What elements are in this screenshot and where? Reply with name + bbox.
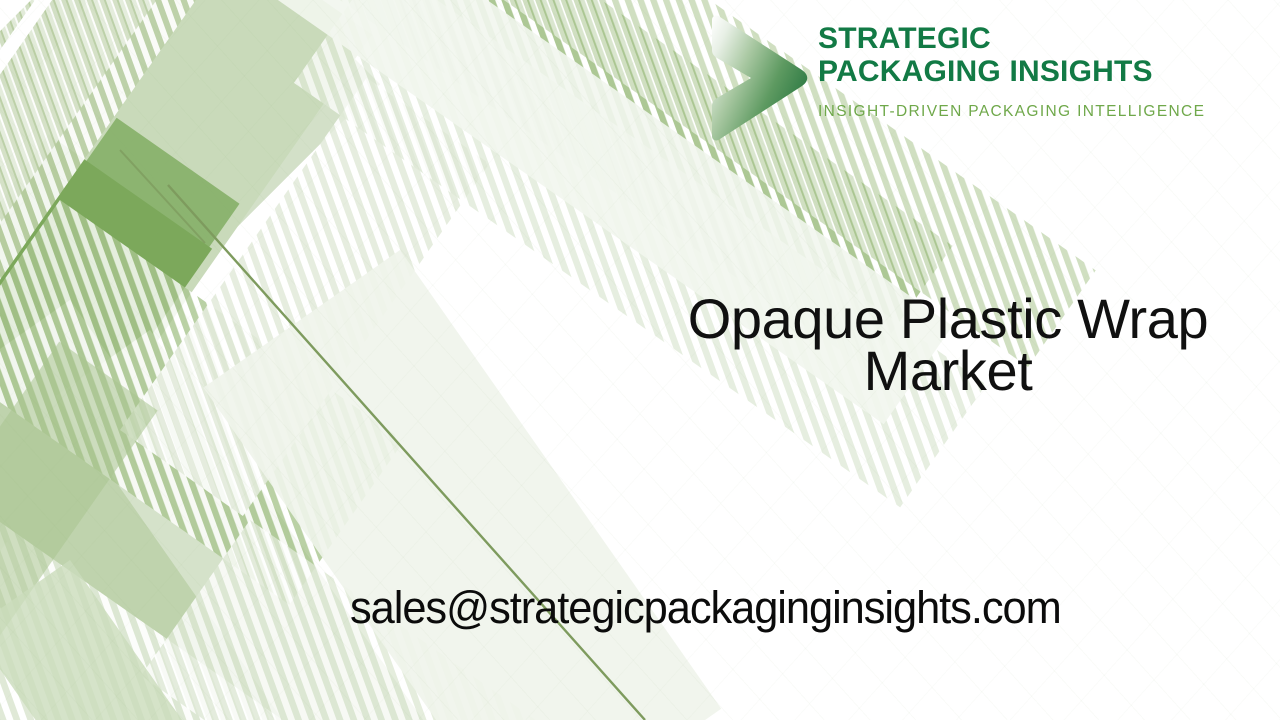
company-logo: STRATEGIC PACKAGING INSIGHTS INSIGHT-DRI… — [706, 14, 1226, 146]
slide-title: Opaque Plastic Wrap Market — [618, 293, 1278, 397]
contact-email: sales@strategicpackaginginsights.com — [350, 580, 1061, 636]
accent-hairline — [168, 185, 645, 720]
chevron-shape — [712, 16, 807, 141]
presentation-slide: STRATEGIC PACKAGING INSIGHTS INSIGHT-DRI… — [0, 0, 1280, 720]
chevron-mark-icon — [706, 14, 810, 142]
logo-line-1: STRATEGIC — [818, 22, 1205, 55]
logo-wordmark: STRATEGIC PACKAGING INSIGHTS INSIGHT-DRI… — [818, 14, 1205, 122]
logo-tagline: INSIGHT-DRIVEN PACKAGING INTELLIGENCE — [818, 102, 1205, 122]
logo-line-2: PACKAGING INSIGHTS — [818, 55, 1205, 88]
